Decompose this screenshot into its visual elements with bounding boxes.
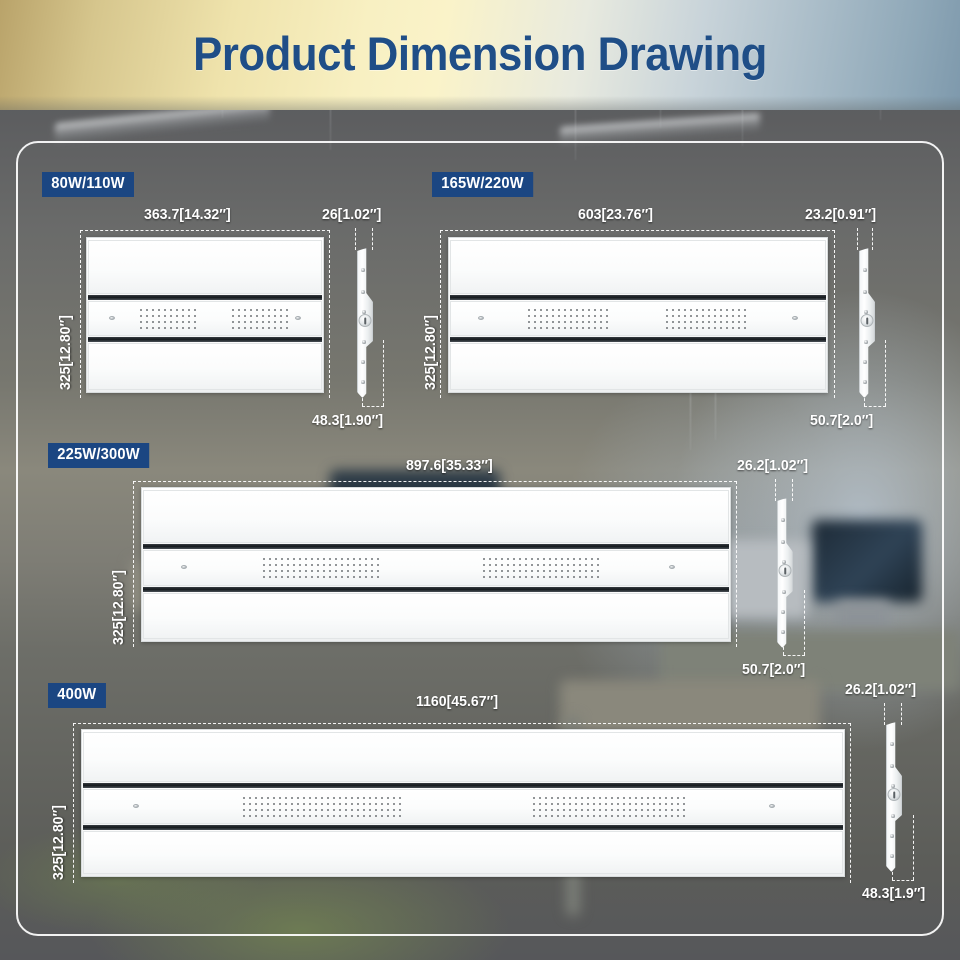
mounting-hole <box>891 814 895 818</box>
side-top-label-225w-300w: 26.2[1.02″] <box>737 457 808 474</box>
badge-model-165w-220w: 165W/220W <box>432 172 533 197</box>
mounting-hole <box>890 854 894 858</box>
fixture-separator <box>450 337 826 342</box>
side-bottom-label-225w-300w: 50.7[2.0″] <box>742 661 805 678</box>
fixture-front-view-80w-110w <box>86 237 324 393</box>
mounting-hole <box>864 340 868 344</box>
side-bottom-label-80w-110w: 48.3[1.90″] <box>312 412 383 429</box>
bracket-knob <box>359 314 372 327</box>
fixture-panel-top <box>88 240 322 294</box>
side-bottom-label-400w: 48.3[1.9″] <box>862 885 925 902</box>
fixture-front-view-225w-300w <box>141 487 731 642</box>
screw <box>669 565 675 569</box>
screw <box>295 316 301 320</box>
mounting-hole <box>863 268 867 272</box>
vent-grille <box>526 307 612 330</box>
fixture-separator <box>88 295 322 300</box>
vent-grille <box>261 556 381 580</box>
vent-grille <box>230 307 288 330</box>
height-label-400w: 325[12.80″] <box>50 805 67 880</box>
badge-model-400w: 400W <box>48 683 106 708</box>
mounting-hole <box>361 380 365 384</box>
fixture-panel-bottom <box>83 831 843 874</box>
mounting-hole <box>863 380 867 384</box>
badge-model-80w-110w: 80W/110W <box>42 172 134 197</box>
mounting-hole <box>890 834 894 838</box>
bracket-knob <box>861 314 874 327</box>
mounting-hole <box>782 560 786 564</box>
page-title: Product Dimension Drawing <box>34 26 927 81</box>
mounting-hole <box>863 360 867 364</box>
screw <box>792 316 798 320</box>
side-guide-bottom <box>362 406 384 407</box>
side-top-label-80w-110w: 26[1.02″] <box>322 206 381 223</box>
height-label-165w-220w: 325[12.80″] <box>422 315 439 390</box>
fixture-panel-middle <box>143 550 729 586</box>
title-banner: Product Dimension Drawing <box>0 0 960 110</box>
bracket-knob <box>779 564 792 577</box>
mounting-hole <box>362 310 366 314</box>
fixture-panel-bottom <box>88 343 322 390</box>
mounting-hole <box>362 340 366 344</box>
mounting-hole <box>781 540 785 544</box>
fixture-panel-middle <box>83 789 843 824</box>
mounting-hole <box>890 764 894 768</box>
fixture-panel-bottom <box>450 343 826 390</box>
mounting-hole <box>891 784 895 788</box>
side-guide-bottom <box>892 880 914 881</box>
side-guide-bottom <box>864 406 886 407</box>
side-guide-right <box>857 228 873 250</box>
width-label-80w-110w: 363.7[14.32″] <box>144 206 231 223</box>
vent-grille <box>241 795 401 818</box>
mounting-hole <box>863 290 867 294</box>
fixture-panel-top <box>143 490 729 543</box>
fixture-separator <box>143 544 729 549</box>
mounting-hole <box>361 290 365 294</box>
mounting-hole <box>781 630 785 634</box>
vent-grille <box>531 795 686 818</box>
screw <box>181 565 187 569</box>
side-guide-right <box>355 228 373 250</box>
fixture-panel-top <box>450 240 826 294</box>
bracket-side-view-225w-300w <box>777 498 793 648</box>
screw <box>478 316 484 320</box>
mounting-hole <box>361 268 365 272</box>
side-guide-bottom <box>783 655 805 656</box>
fixture-front-view-400w <box>81 729 845 877</box>
side-top-label-400w: 26.2[1.02″] <box>845 681 916 698</box>
mounting-hole <box>781 518 785 522</box>
height-label-225w-300w: 325[12.80″] <box>110 570 127 645</box>
badge-model-225w-300w: 225W/300W <box>48 443 149 468</box>
vent-grille <box>481 556 599 580</box>
bracket-side-view-80w-110w <box>357 248 373 398</box>
width-label-225w-300w: 897.6[35.33″] <box>406 457 493 474</box>
fixture-separator <box>450 295 826 300</box>
mounting-hole <box>361 360 365 364</box>
side-bottom-label-165w-220w: 50.7[2.0″] <box>810 412 873 429</box>
fixture-separator <box>83 783 843 788</box>
mounting-hole <box>782 590 786 594</box>
screw <box>769 804 775 808</box>
fixture-separator <box>143 587 729 592</box>
fixture-separator <box>88 337 322 342</box>
mounting-hole <box>864 310 868 314</box>
mounting-hole <box>890 742 894 746</box>
side-top-label-165w-220w: 23.2[0.91″] <box>805 206 876 223</box>
fixture-front-view-165w-220w <box>448 237 828 393</box>
width-label-165w-220w: 603[23.76″] <box>578 206 653 223</box>
height-label-80w-110w: 325[12.80″] <box>57 315 74 390</box>
fixture-panel-top <box>83 732 843 782</box>
fixture-separator <box>83 825 843 830</box>
bracket-knob <box>888 788 901 801</box>
bracket-side-view-400w <box>886 722 902 872</box>
width-label-400w: 1160[45.67″] <box>416 693 498 710</box>
bracket-side-view-165w-220w <box>859 248 875 398</box>
monitor-shape <box>812 520 922 602</box>
vent-grille <box>138 307 200 330</box>
fixture-panel-bottom <box>143 593 729 639</box>
mounting-hole <box>781 610 785 614</box>
vent-grille <box>664 307 750 330</box>
fixture-panel-middle <box>450 301 826 336</box>
screw <box>133 804 139 808</box>
screw <box>109 316 115 320</box>
